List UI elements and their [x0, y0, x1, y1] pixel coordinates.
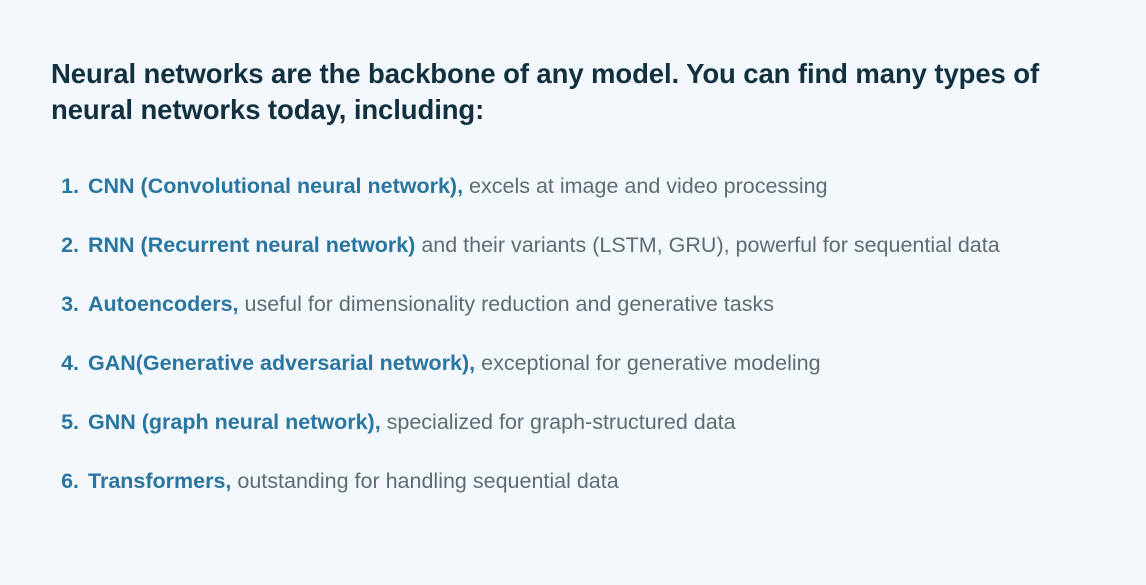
neural-network-types-list: 1. CNN (Convolutional neural network), e… — [51, 168, 1111, 499]
list-item-term: GNN (graph neural network), — [88, 410, 381, 434]
list-item: 1. CNN (Convolutional neural network), e… — [51, 168, 1111, 204]
list-item-marker: 2. — [51, 227, 79, 263]
list-item-marker: 3. — [51, 286, 79, 322]
list-item-description: and their variants (LSTM, GRU), powerful… — [415, 233, 999, 257]
list-item-marker: 5. — [51, 404, 79, 440]
list-item-description: outstanding for handling sequential data — [231, 469, 618, 493]
list-item-term: Autoencoders, — [88, 292, 239, 316]
list-item: 2. RNN (Recurrent neural network) and th… — [51, 227, 1111, 263]
list-item-term: CNN (Convolutional neural network), — [88, 174, 463, 198]
list-item-term: RNN (Recurrent neural network) — [88, 233, 415, 257]
list-item: 5. GNN (graph neural network), specializ… — [51, 404, 1111, 440]
list-item: 4. GAN(Generative adversarial network), … — [51, 345, 1111, 381]
list-item: 3. Autoencoders, useful for dimensionali… — [51, 286, 1111, 322]
list-item-description: specialized for graph-structured data — [381, 410, 736, 434]
page-title: Neural networks are the backbone of any … — [51, 56, 1086, 128]
list-item-description: excels at image and video processing — [463, 174, 828, 198]
list-item-term: GAN(Generative adversarial network), — [88, 351, 475, 375]
list-item-marker: 4. — [51, 345, 79, 381]
list-item-marker: 1. — [51, 168, 79, 204]
list-item-description: exceptional for generative modeling — [475, 351, 820, 375]
list-item-description: useful for dimensionality reduction and … — [239, 292, 774, 316]
list-item-marker: 6. — [51, 463, 79, 499]
slide-content: Neural networks are the backbone of any … — [0, 0, 1146, 585]
list-item: 6. Transformers, outstanding for handlin… — [51, 463, 1111, 499]
list-item-term: Transformers, — [88, 469, 231, 493]
